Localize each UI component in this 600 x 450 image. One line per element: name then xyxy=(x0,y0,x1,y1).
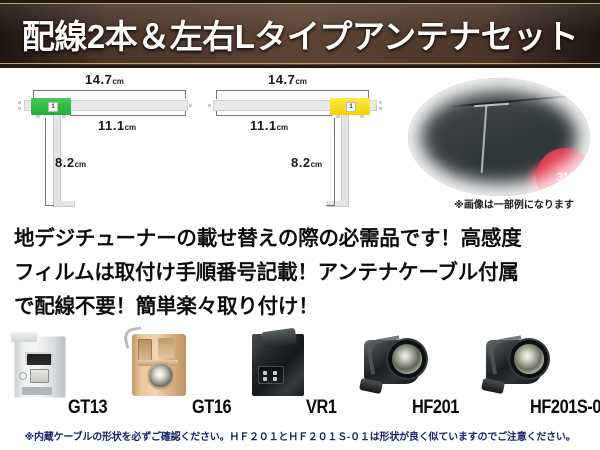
connector-hf201: HF201 xyxy=(360,330,460,425)
hf201-center-pin xyxy=(392,344,422,374)
gt13-connector-image xyxy=(6,330,70,396)
hf201s-body-group xyxy=(484,332,546,394)
left-dim-147-line xyxy=(33,90,185,91)
hf201-label: HF201 xyxy=(412,397,459,419)
page-title: 配線2本＆左右Lタイプアンテナセット xyxy=(0,7,600,61)
gt16-slot-right xyxy=(158,338,174,358)
gt13-label: GT13 xyxy=(68,397,107,419)
gt13-foot xyxy=(22,387,52,395)
left-antenna-tail-foot xyxy=(53,201,75,207)
right-dim-147-label: 14.7cm xyxy=(268,71,307,89)
right-dim-147-tick-start xyxy=(216,90,217,99)
connector-gt16: GT16 xyxy=(122,330,222,425)
right-dim-111-line xyxy=(216,115,331,116)
vr1-pin-4 xyxy=(273,377,277,381)
hf201s-connector-image xyxy=(482,330,546,396)
vr1-face xyxy=(258,366,284,384)
connector-vr1: VR1 xyxy=(248,330,348,425)
left-antenna-end-dot xyxy=(189,104,192,107)
product-banner-image: 配線2本＆左右Lタイプアンテナセット 14.7cm 11.1cm xyxy=(0,0,600,450)
photo-caption: ※画像は一部例になります xyxy=(430,196,598,211)
left-antenna-number-box: 1 xyxy=(48,102,58,112)
left-dim-82-label: 8.2cm xyxy=(55,154,86,172)
vr1-top-shell xyxy=(261,328,297,349)
gt16-wire xyxy=(122,326,145,349)
right-antenna-nub-2 xyxy=(360,115,364,118)
right-antenna-dot-top xyxy=(379,101,382,104)
gt13-side-dot xyxy=(19,372,27,380)
right-antenna-nub-1 xyxy=(336,115,340,118)
left-dim-82-tick-bottom xyxy=(45,205,54,206)
right-dim-111-label: 11.1cm xyxy=(250,117,288,135)
left-dim-111-line xyxy=(70,115,185,116)
gt16-center-pin xyxy=(149,364,173,388)
right-dim-82-tick-bottom xyxy=(326,205,335,206)
vr1-pin-1 xyxy=(263,371,267,375)
vr1-label: VR1 xyxy=(306,397,337,419)
right-antenna-dot-bottom xyxy=(379,107,382,110)
vr1-body xyxy=(252,334,304,396)
gt16-connector-image xyxy=(122,330,186,396)
connector-gt13: GT13 xyxy=(6,330,106,425)
right-antenna-tail xyxy=(341,115,349,205)
left-antenna-nub-1 xyxy=(36,115,40,118)
hf201-connector-image xyxy=(360,330,424,396)
gt13-body xyxy=(14,336,66,398)
right-antenna-number-box: 1 xyxy=(346,102,356,112)
installation-photo: 3M xyxy=(408,78,590,196)
right-dim-147-line xyxy=(216,90,368,91)
description-block: 地デジチューナーの載せ替えの際の必需品です！高感度 フィルムは取付け手順番号記載… xyxy=(14,222,590,324)
vr1-connector-image xyxy=(248,330,312,396)
description-line-3: で配線不要！簡単楽々取り付け！ xyxy=(14,290,590,324)
left-antenna-nub-2 xyxy=(62,115,66,118)
right-dim-82-line xyxy=(334,118,335,206)
left-dim-111-label: 11.1cm xyxy=(98,117,136,135)
hf201s-center-pin xyxy=(514,344,544,374)
right-dim-82-label: 8.2cm xyxy=(291,154,322,172)
left-dim-147-tick-end xyxy=(185,90,186,99)
right-antenna-end-dot xyxy=(208,104,211,107)
left-antenna-dot-top xyxy=(18,101,21,104)
header-banner: 配線2本＆左右Lタイプアンテナセット xyxy=(0,0,600,68)
banner-gold-rule-top xyxy=(0,3,600,4)
vr1-pin-3 xyxy=(263,377,267,381)
description-line-1: 地デジチューナーの載せ替えの際の必需品です！高感度 xyxy=(14,222,590,256)
connector-type-row: GT13 GT16 xyxy=(0,330,600,425)
vr1-pin-2 xyxy=(273,371,277,375)
hf201-body-group xyxy=(362,332,424,394)
hf201s-01-label: HF201S-01 xyxy=(530,397,600,419)
left-antenna-dot-bottom xyxy=(18,107,21,110)
description-line-2: フィルムは取付け手順番号記載！アンテナケーブル付属 xyxy=(14,256,590,290)
gt13-top-tab xyxy=(11,332,37,342)
left-dim-147-label: 14.7cm xyxy=(85,71,124,89)
gt16-label: GT16 xyxy=(192,397,231,419)
left-dim-82-line xyxy=(45,118,46,206)
connector-hf201s-01: HF201S-01 xyxy=(482,330,582,425)
footer-note: ※内蔵ケーブルの形状を必ずご確認ください。ＨＦ２０１とＨＦ２０１Ｓ-０１は形状が… xyxy=(0,428,600,443)
banner-gold-rule-bottom xyxy=(0,63,600,64)
photo-vignette xyxy=(408,78,590,196)
right-antenna-tail-foot xyxy=(327,201,349,207)
